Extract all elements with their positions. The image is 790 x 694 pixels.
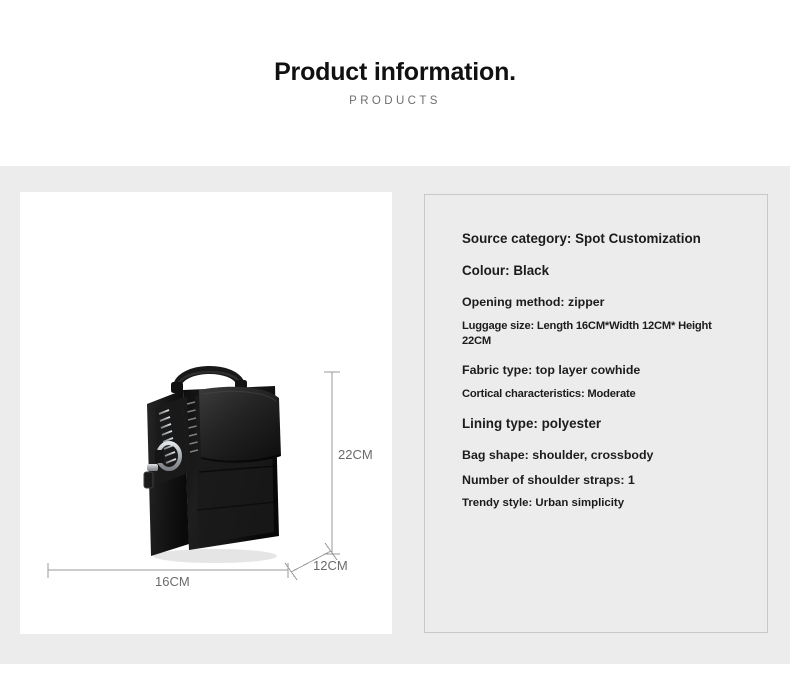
spec-item: Colour: Black (462, 263, 742, 280)
spec-item: Bag shape: shoulder, crossbody (462, 448, 742, 464)
specification-list: Source category: Spot Customization Colo… (462, 231, 742, 510)
spec-item: Source category: Spot Customization (462, 231, 742, 248)
dimension-depth-label: 12CM (313, 558, 348, 573)
spec-item: Fabric type: top layer cowhide (462, 363, 742, 379)
page-header: Product information. PRODUCTS (0, 0, 790, 166)
spec-item: Luggage size: Length 16CM*Width 12CM* He… (462, 319, 742, 347)
spec-item: Number of shoulder straps: 1 (462, 473, 742, 489)
spec-item: Cortical characteristics: Moderate (462, 387, 742, 401)
spec-item: Trendy style: Urban simplicity (462, 496, 742, 510)
product-photo (125, 360, 305, 572)
page-title: Product information. (0, 58, 790, 87)
dimension-width-label: 16CM (155, 574, 190, 589)
dimension-height-label: 22CM (338, 447, 373, 462)
page-subtitle: PRODUCTS (0, 95, 790, 107)
spec-item: Opening method: zipper (462, 295, 742, 311)
spec-item: Lining type: polyester (462, 416, 742, 433)
